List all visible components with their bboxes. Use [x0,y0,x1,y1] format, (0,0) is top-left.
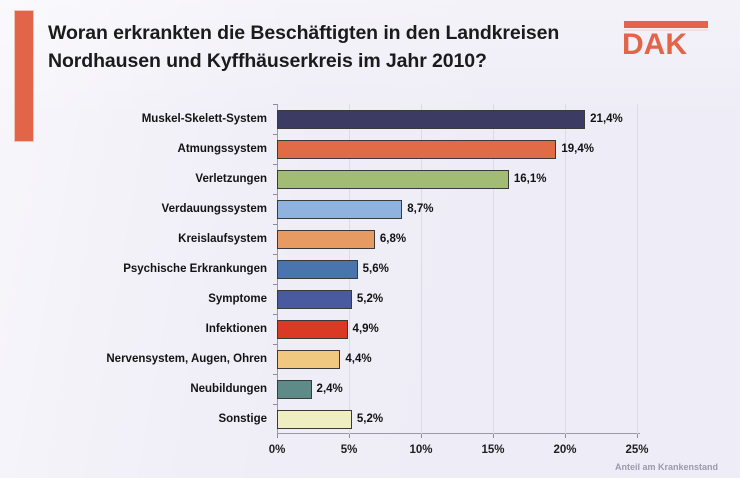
bar-row: Infektionen4,9% [277,320,637,339]
bar[interactable] [277,410,352,429]
dak-logo-text: DAK [622,28,687,60]
footnote: Anteil am Krankenstand [615,462,718,472]
bar[interactable] [277,170,509,189]
y-tick [273,224,277,225]
y-tick [273,404,277,405]
dak-logo: DAK [622,18,714,60]
bar-chart: 0%5%10%15%20%25% Muskel-Skelett-System21… [0,96,740,444]
y-tick [273,344,277,345]
y-tick [273,104,277,105]
category-label: Kreislaufsystem [178,233,267,245]
x-tick [637,434,638,438]
x-tick [277,434,278,438]
bar-row: Sonstige5,2% [277,410,637,429]
bar-value-label: 19,4% [561,143,594,155]
bar-row: Muskel-Skelett-System21,4% [277,110,637,129]
bar-value-label: 21,4% [590,113,623,125]
page-title-line-2: Nordhausen und Kyffhäuserkreis im Jahr 2… [48,48,628,76]
category-label: Symptome [208,293,267,305]
y-tick [273,374,277,375]
bar-row: Kreislaufsystem6,8% [277,230,637,249]
y-tick [273,164,277,165]
bar-value-label: 2,4% [317,383,343,395]
bar-row: Neubildungen2,4% [277,380,637,399]
bar-value-label: 5,2% [357,413,383,425]
bar-value-label: 4,9% [353,323,379,335]
plot-area: 0%5%10%15%20%25% Muskel-Skelett-System21… [277,104,637,434]
x-tick [565,434,566,438]
x-tick [349,434,350,438]
bar[interactable] [277,230,375,249]
y-tick [273,314,277,315]
category-label: Nervensystem, Augen, Ohren [106,353,267,365]
y-tick [273,254,277,255]
category-label: Psychische Erkrankungen [123,263,267,275]
y-tick [273,134,277,135]
chart-page: Woran erkrankten die Beschäftigten in de… [0,0,740,478]
category-label: Muskel-Skelett-System [142,113,267,125]
y-tick [273,284,277,285]
category-label: Sonstige [218,413,267,425]
bar[interactable] [277,260,358,279]
bar[interactable] [277,140,556,159]
bar-value-label: 6,8% [380,233,406,245]
x-tick-label: 10% [409,444,432,456]
x-tick-label: 20% [553,444,576,456]
bar-row: Verdauungssystem8,7% [277,200,637,219]
bar-row: Verletzungen16,1% [277,170,637,189]
bar-row: Atmungssystem19,4% [277,140,637,159]
x-tick [421,434,422,438]
bar-row: Symptome5,2% [277,290,637,309]
bar-value-label: 4,4% [345,353,371,365]
bar[interactable] [277,110,585,129]
category-label: Infektionen [206,323,267,335]
y-tick [273,194,277,195]
gridline [637,104,638,434]
x-tick-label: 25% [625,444,648,456]
bar-row: Nervensystem, Augen, Ohren4,4% [277,350,637,369]
bar[interactable] [277,200,402,219]
category-label: Verletzungen [195,173,267,185]
category-label: Atmungssystem [178,143,267,155]
bar-value-label: 8,7% [407,203,433,215]
x-tick-label: 5% [341,444,358,456]
x-tick-label: 15% [481,444,504,456]
bar-value-label: 5,6% [363,263,389,275]
bar[interactable] [277,320,348,339]
x-tick [493,434,494,438]
x-tick-label: 0% [269,444,286,456]
x-axis-line [277,433,640,434]
bar-value-label: 5,2% [357,293,383,305]
bar[interactable] [277,380,312,399]
bar-row: Psychische Erkrankungen5,6% [277,260,637,279]
bar[interactable] [277,350,340,369]
bar[interactable] [277,290,352,309]
page-title: Woran erkrankten die Beschäftigten in de… [48,20,628,75]
category-label: Neubildungen [190,383,267,395]
bar-value-label: 16,1% [514,173,547,185]
dak-logo-icon: DAK [622,18,714,60]
page-title-line-1: Woran erkrankten die Beschäftigten in de… [48,20,628,48]
category-label: Verdauungssystem [162,203,267,215]
